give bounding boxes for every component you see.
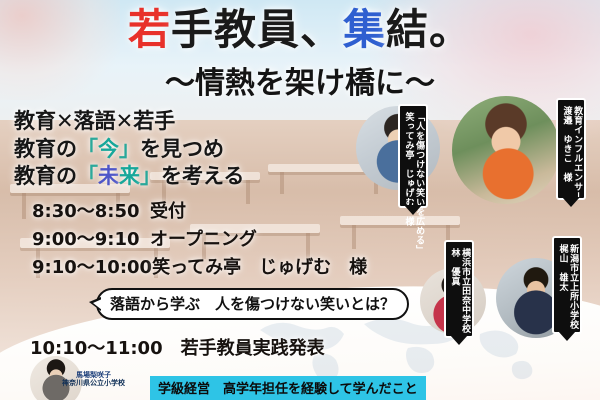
speaker-name: 笑ってみ亭 じゅげむ 様 [403,112,413,226]
catch-line2-post: を見つめ [140,137,224,161]
schedule-time: 9:00〜9:10 [32,226,150,254]
event-poster: 若手教員、集結。 〜情熱を架け橋に〜 教育✕落語✕若手 教育の「今」を見つめ 教… [0,0,600,400]
schedule-list: 8:30〜8:50受付 9:00〜9:10オープニング 9:10〜10:00笑っ… [32,198,367,282]
schedule-time: 9:10〜10:00 [32,254,152,282]
speech-bubble: 落語から学ぶ 人を傷つけない笑いとは？ [96,288,409,320]
schedule-row: 9:10〜10:00笑ってみ亭 じゅげむ 様 [32,254,367,282]
name-ribbon-hayashi: 横浜市立田奈中学校 林 優真 [444,240,474,338]
speaker-affiliation: 教育インフルエンサー [572,106,582,201]
speaker-name: 梶山 雄太 [557,244,567,292]
speaker-affiliation: 横浜市立田奈中学校 [460,248,470,334]
schedule-row: 8:30〜8:50受付 [32,198,367,226]
catch-line3-post: を考える [161,164,244,188]
catch-line3-keyword-b: 来 [119,164,140,188]
title-highlight-waka: 若 [128,5,171,54]
catch-copy: 教育✕落語✕若手 教育の「今」を見つめ 教育の「未来」を考える [14,108,244,191]
photo-yukiko [452,96,560,204]
schedule-label: 笑ってみ亭 じゅげむ 様 [152,254,367,282]
catch-copy-line-2: 教育の「今」を見つめ [14,136,244,164]
catch-line3-bracket-open: 「 [77,164,98,188]
speaker-name: 林 優真 [449,248,459,286]
title-highlight-shu: 集 [343,5,386,54]
name-ribbon-kajiyama: 新潟市立上所小学校 梶山 雄太 [552,236,582,334]
title-text-2: 結。 [386,5,472,54]
speaker-name: 渡邉 ゆきこ 様 [561,106,571,182]
presenter-affiliation: 神奈川県公立小学校 [62,380,125,388]
catch-line3-keyword-a: 未 [98,164,119,188]
page-title: 若手教員、集結。 [0,8,600,52]
session-title: 学級経営 高学年担任を経験して学んだこと [150,376,426,400]
schedule-label: 受付 [150,198,186,226]
name-ribbon-yukiko: 教育インフルエンサー 渡邉 ゆきこ 様 [556,98,586,200]
catch-line2-keyword: 今 [98,137,119,161]
schedule-row: 9:00〜9:10オープニング [32,226,367,254]
speaker-tagline: 「人を傷つけない笑いを広める」 [414,112,424,255]
name-ribbon-jugemu: 「人を傷つけない笑いを広める」 笑ってみ亭 じゅげむ 様 [398,104,428,208]
catch-copy-line-1: 教育✕落語✕若手 [14,108,244,136]
catch-line2-pre: 教育の [14,137,77,161]
speaker-affiliation: 新潟市立上所小学校 [568,244,578,330]
catch-line3-bracket-close: 」 [140,164,161,188]
presenter-credit-baba: 馬場梨咲子 神奈川県公立小学校 [62,372,125,388]
schedule-row-late: 10:10〜11:00 若手教員実践発表 [30,334,325,360]
schedule-time: 8:30〜8:50 [32,198,150,226]
catch-line3-pre: 教育の [14,164,77,188]
title-text-1: 手教員、 [171,5,343,54]
catch-line2-bracket-open: 「 [77,137,98,161]
catch-line2-bracket-close: 」 [119,137,140,161]
catch-copy-line-3: 教育の「未来」を考える [14,163,244,191]
schedule-label: オープニング [150,226,257,254]
